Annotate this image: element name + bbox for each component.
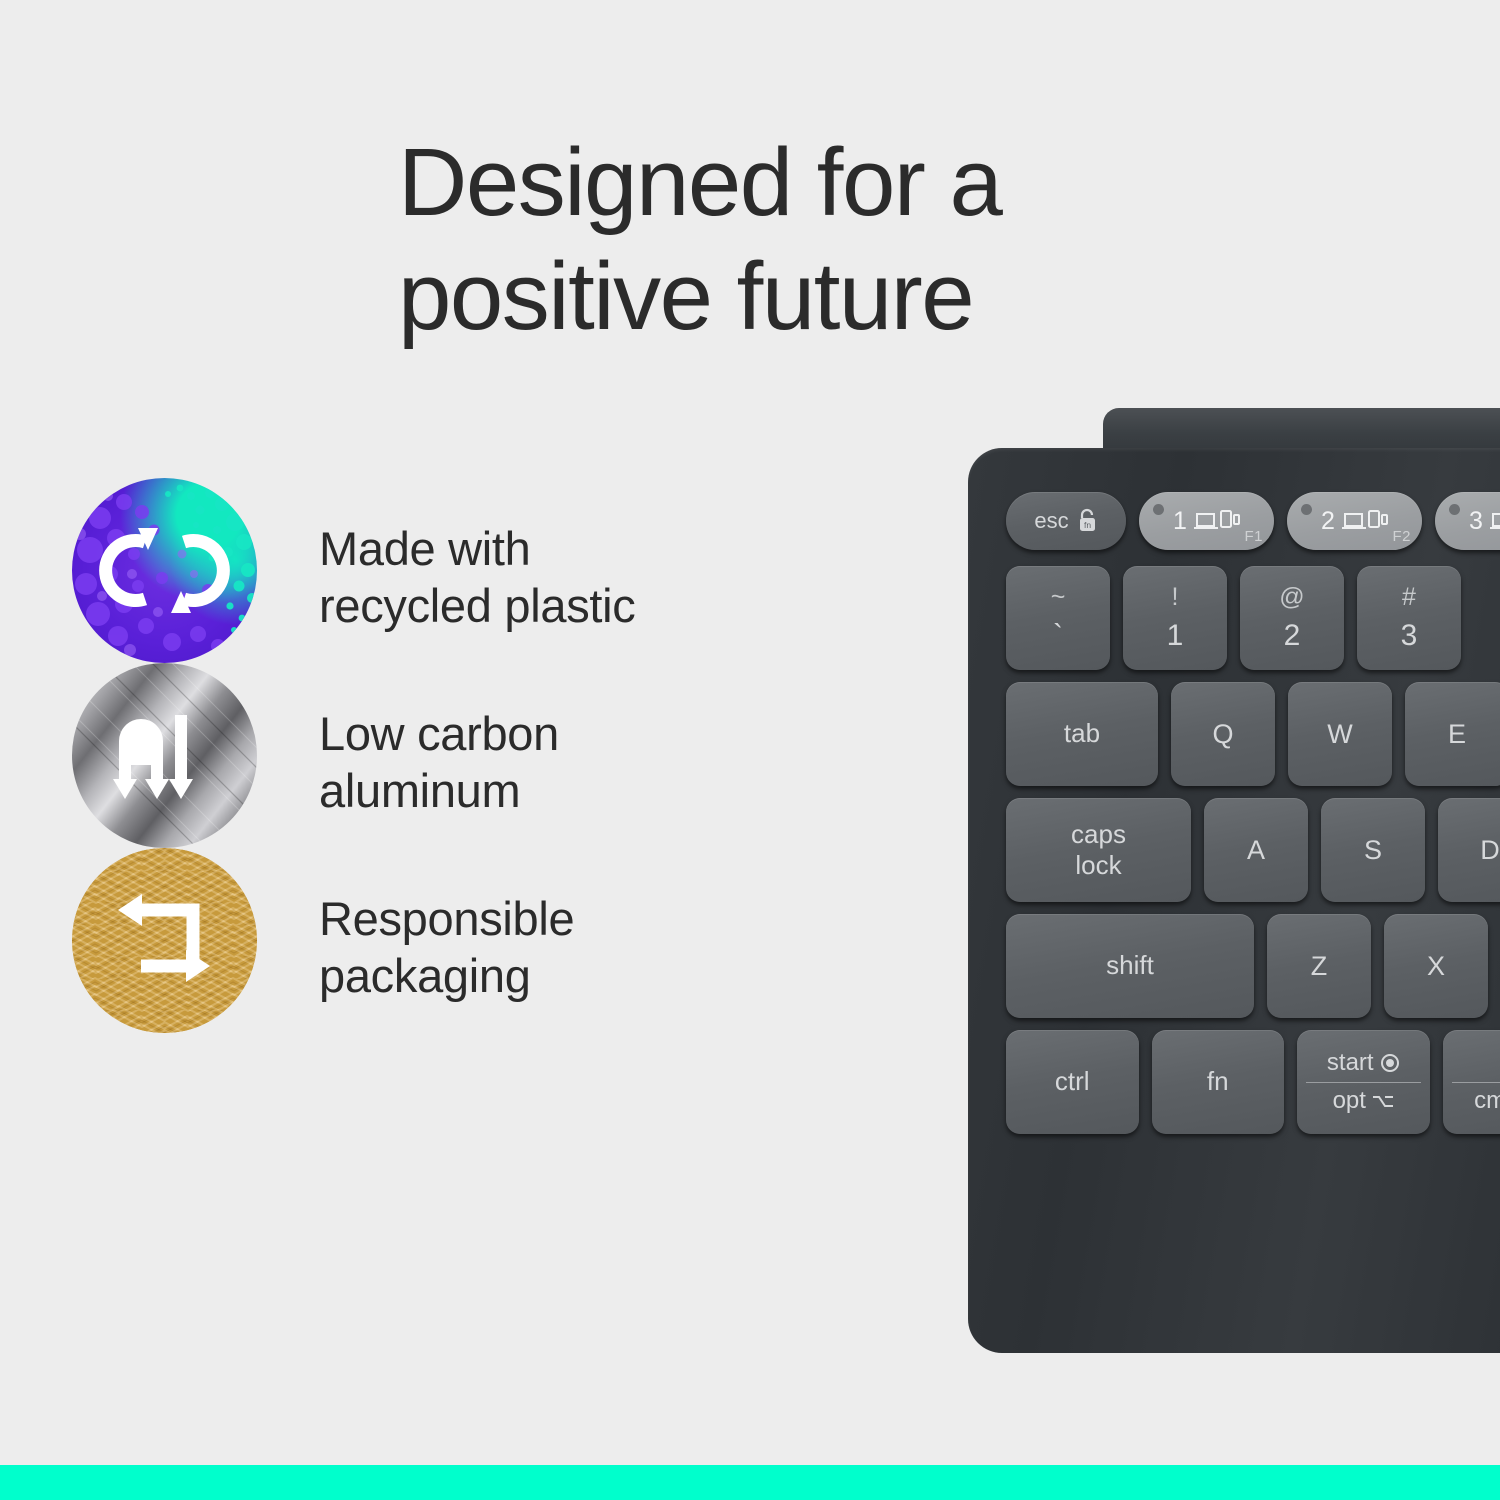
keyboard-modifier-row: ctrl fn start: [968, 1030, 1500, 1134]
recycled-plastic-badge: [72, 478, 257, 663]
key-a[interactable]: A: [1204, 798, 1308, 902]
key-w[interactable]: W: [1288, 682, 1392, 786]
feature-item-low-carbon-aluminum: Low carbon aluminum: [72, 663, 772, 848]
key-x-label: X: [1427, 950, 1445, 982]
svg-text:fn: fn: [1084, 520, 1091, 530]
recycled-plastic-icon: [72, 478, 257, 663]
key-three-bottom: 3: [1401, 621, 1418, 651]
key-divider: [1452, 1082, 1500, 1083]
keyboard-number-row: ~ ` ! 1 @ 2 # 3: [968, 566, 1500, 670]
key-e[interactable]: E: [1405, 682, 1500, 786]
key-f1-corner: F1: [1244, 528, 1263, 545]
key-f1[interactable]: 1 F1: [1139, 492, 1274, 550]
key-z-label: Z: [1311, 950, 1328, 982]
accent-bar: [0, 1465, 1500, 1500]
easy-switch-devices-icon: [1340, 508, 1388, 534]
easy-switch-devices-icon: [1192, 508, 1240, 534]
feature-label-recycled-plastic: Made with recycled plastic: [319, 520, 636, 635]
key-s-label: S: [1364, 834, 1382, 866]
key-ctrl-label: ctrl: [1055, 1066, 1090, 1097]
key-a-label: A: [1247, 834, 1265, 866]
key-esc-label: esc: [1034, 508, 1068, 534]
keyboard-tab-row: tab Q W E: [968, 682, 1500, 786]
key-z[interactable]: Z: [1267, 914, 1371, 1018]
key-q-label: Q: [1212, 718, 1233, 750]
responsible-packaging-badge: [72, 848, 257, 1033]
keyboard-home-row: caps lock A S D: [968, 798, 1500, 902]
sustainability-feature-list: Made with recycled plastic: [72, 478, 772, 1033]
key-one[interactable]: ! 1: [1123, 566, 1227, 670]
key-shift[interactable]: shift: [1006, 914, 1254, 1018]
key-tilde-grave[interactable]: ~ `: [1006, 566, 1110, 670]
key-three[interactable]: # 3: [1357, 566, 1461, 670]
key-f3-number: 3: [1469, 507, 1483, 536]
key-esc[interactable]: esc fn: [1006, 492, 1126, 550]
lock-fn-icon: fn: [1076, 508, 1098, 534]
key-one-bottom: 1: [1167, 621, 1184, 651]
key-cmd-label: cmd: [1474, 1087, 1500, 1115]
key-ctrl[interactable]: ctrl: [1006, 1030, 1139, 1134]
key-w-label: W: [1327, 718, 1352, 750]
page-title: Designed for a positive future: [398, 126, 1158, 353]
key-tilde-top: ~: [1051, 585, 1066, 610]
key-caps-lock[interactable]: caps lock: [1006, 798, 1191, 902]
key-tab-label: tab: [1064, 718, 1100, 749]
key-f1-number: 1: [1173, 507, 1187, 536]
packaging-loop-icon: [72, 848, 257, 1033]
key-f3[interactable]: 3 F3: [1435, 492, 1500, 550]
key-three-top: #: [1402, 585, 1416, 610]
easy-switch-devices-icon: [1488, 508, 1500, 534]
feature-item-responsible-packaging: Responsible packaging: [72, 848, 772, 1033]
f1-indicator-dot: [1153, 504, 1164, 515]
key-f2[interactable]: 2 F2: [1287, 492, 1422, 550]
key-two-bottom: 2: [1284, 621, 1301, 651]
keyboard-product-image: esc fn 1: [968, 408, 1500, 1353]
f3-indicator-dot: [1449, 504, 1460, 515]
key-d[interactable]: D: [1438, 798, 1500, 902]
keyboard-shift-row: shift Z X: [968, 914, 1500, 1018]
feature-item-recycled-plastic: Made with recycled plastic: [72, 478, 772, 663]
key-two-top: @: [1279, 585, 1304, 610]
feature-label-responsible-packaging: Responsible packaging: [319, 890, 574, 1005]
feature-label-low-carbon-aluminum: Low carbon aluminum: [319, 705, 559, 820]
key-start-opt[interactable]: start opt: [1297, 1030, 1430, 1134]
key-caps-lock-label: caps lock: [1071, 819, 1126, 881]
key-start-label: start: [1327, 1049, 1374, 1077]
key-s[interactable]: S: [1321, 798, 1425, 902]
key-two[interactable]: @ 2: [1240, 566, 1344, 670]
key-opt-label: opt: [1333, 1087, 1366, 1115]
key-q[interactable]: Q: [1171, 682, 1275, 786]
product-feature-page: Designed for a positive future: [0, 0, 1500, 1500]
key-e-label: E: [1448, 718, 1466, 750]
key-fn[interactable]: fn: [1152, 1030, 1285, 1134]
key-divider: [1306, 1082, 1421, 1083]
low-carbon-aluminum-badge: [72, 663, 257, 848]
aluminum-arrows-icon: [72, 663, 257, 848]
key-fn-label: fn: [1207, 1066, 1229, 1097]
key-f2-corner: F2: [1392, 528, 1411, 545]
f2-indicator-dot: [1301, 504, 1312, 515]
keyboard-function-row: esc fn 1: [968, 448, 1500, 550]
keyboard-key-rows: esc fn 1: [968, 448, 1500, 1146]
key-tilde-bottom: `: [1053, 621, 1063, 651]
key-one-top: !: [1172, 585, 1179, 610]
key-cmd[interactable]: cmd: [1443, 1030, 1500, 1134]
key-x[interactable]: X: [1384, 914, 1488, 1018]
key-tab[interactable]: tab: [1006, 682, 1158, 786]
key-d-label: D: [1480, 834, 1500, 866]
key-f2-number: 2: [1321, 507, 1335, 536]
key-shift-label: shift: [1106, 950, 1154, 981]
windows-start-icon: [1380, 1053, 1400, 1073]
mac-option-icon: [1372, 1093, 1394, 1109]
